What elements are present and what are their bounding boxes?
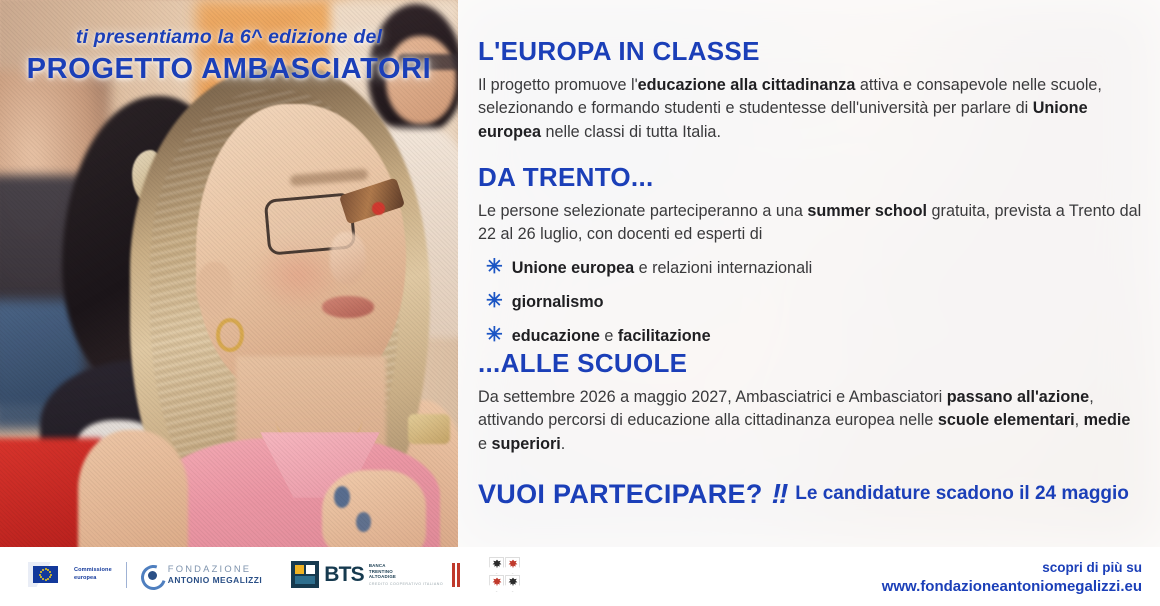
- section-title: L'EUROPA IN CLASSE: [478, 36, 1142, 67]
- bts-name: BTS: [324, 564, 364, 585]
- eu-logo-line2: europea: [74, 575, 112, 583]
- headline-line2: PROGETTO AMBASCIATORI: [0, 53, 458, 86]
- topics-list: ✳Unione europea e relazioni internaziona…: [478, 257, 1142, 347]
- section-body: Il progetto promuove l'educazione alla c…: [478, 74, 1142, 144]
- fondazione-line2: ANTONIO MEGALIZZI: [168, 575, 262, 585]
- bts-sub3: ALTOADIGE: [369, 574, 443, 580]
- asterisk-bullet-icon: ✳: [486, 291, 503, 311]
- partner-logos: Commissione europea FONDAZIONE ANTONIO M…: [28, 557, 521, 592]
- section-body: Le persone selezionate parteciperanno a …: [478, 200, 1142, 247]
- section-alle-scuole: ...ALLE SCUOLE Da settembre 2026 a maggi…: [478, 348, 1142, 456]
- fondazione-megalizzi-logo: FONDAZIONE ANTONIO MEGALIZZI: [141, 563, 262, 587]
- list-item: ✳educazione e facilitazione: [486, 325, 1142, 346]
- double-exclamation-icon: !!: [772, 478, 787, 510]
- list-item: ✳Unione europea e relazioni internaziona…: [486, 257, 1142, 278]
- fondazione-line1: FONDAZIONE: [168, 564, 262, 574]
- bts-square-icon: [291, 561, 319, 588]
- section-da-trento: DA TRENTO... Le persone selezionate part…: [478, 162, 1142, 359]
- list-item: ✳giornalismo: [486, 291, 1142, 312]
- text-panel: L'EUROPA IN CLASSE Il progetto promuove …: [458, 0, 1160, 547]
- trentino-alto-adige-emblem: [489, 557, 521, 592]
- cta-deadline: Le candidature scadono il 24 maggio: [795, 483, 1129, 505]
- poster: ti presentiamo la 6^ edizione del PROGET…: [0, 0, 1160, 606]
- fondazione-mark-icon: [141, 563, 163, 587]
- footer: Commissione europea FONDAZIONE ANTONIO M…: [0, 547, 1160, 606]
- eagle-shield-icon: [505, 557, 520, 574]
- site-url[interactable]: www.fondazioneantoniomegalizzi.eu: [882, 577, 1142, 597]
- bts-bank-logo: BTS BANCA TRENTINO ALTOADIGE CREDITO COO…: [291, 561, 460, 588]
- website-block: scopri di più su www.fondazioneantoniome…: [882, 559, 1142, 596]
- bts-bars-icon: [452, 563, 460, 587]
- eu-commission-logo: Commissione europea: [28, 562, 112, 587]
- headline: ti presentiamo la 6^ edizione del PROGET…: [0, 26, 458, 86]
- eagle-shield-icon: [505, 575, 520, 592]
- headline-line1: ti presentiamo la 6^ edizione del: [0, 26, 458, 49]
- logo-divider: [126, 562, 127, 588]
- site-line1: scopri di più su: [882, 559, 1142, 577]
- bts-tagline: CREDITO COOPERATIVO ITALIANO: [369, 582, 443, 586]
- cta-question: VUOI PARTECIPARE?: [478, 479, 763, 510]
- section-europa-in-classe: L'EUROPA IN CLASSE Il progetto promuove …: [478, 36, 1142, 144]
- eagle-shield-icon: [489, 575, 504, 592]
- eu-flag-icon: [28, 562, 68, 587]
- call-to-action: VUOI PARTECIPARE? !! Le candidature scad…: [478, 478, 1129, 510]
- section-body: Da settembre 2026 a maggio 2027, Ambasci…: [478, 386, 1142, 456]
- eu-logo-line1: Commissione: [74, 567, 112, 575]
- asterisk-bullet-icon: ✳: [486, 257, 503, 277]
- section-title: DA TRENTO...: [478, 162, 1142, 193]
- section-title: ...ALLE SCUOLE: [478, 348, 1142, 379]
- asterisk-bullet-icon: ✳: [486, 325, 503, 345]
- eagle-shield-icon: [489, 557, 504, 574]
